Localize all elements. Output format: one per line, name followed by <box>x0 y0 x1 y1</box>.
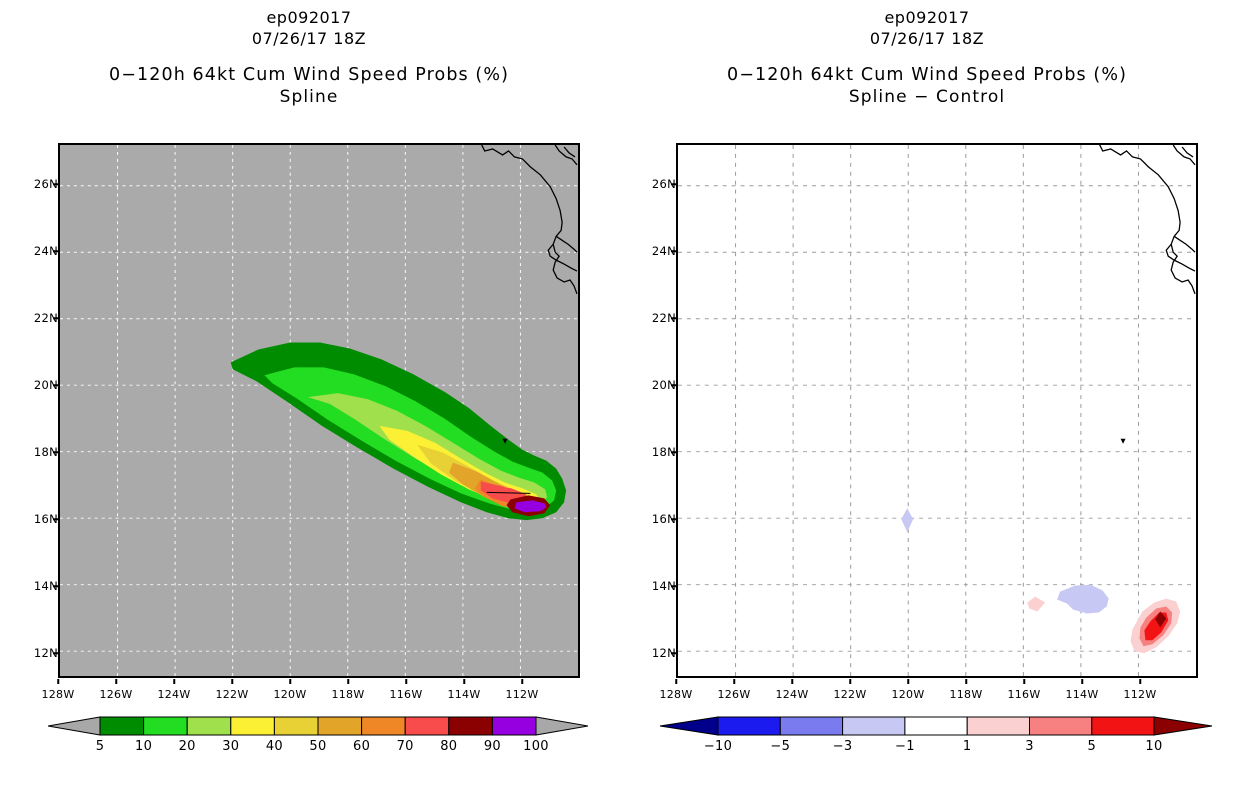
x-tick-mark-116W <box>405 679 407 684</box>
map-plot-area-spline[interactable] <box>58 143 580 678</box>
x-tick-label-120W: 120W <box>273 688 306 701</box>
x-tick-label-122W: 122W <box>833 688 866 701</box>
x-tick-label-112W: 112W <box>1123 688 1156 701</box>
spline-probability-map <box>60 145 578 676</box>
x-tick-label-126W: 126W <box>717 688 750 701</box>
cb-label-5: 5 <box>96 739 105 754</box>
right-title-block: ep092017 07/26/17 18Z 0−120h 64kt Cum Wi… <box>618 8 1236 108</box>
x-tick-label-116W: 116W <box>389 688 422 701</box>
left-storm-id: ep092017 <box>0 8 618 29</box>
x-tick-mark-128W <box>675 679 677 684</box>
x-tick-label-114W: 114W <box>447 688 480 701</box>
cb-label-pos10: 10 <box>1145 739 1162 754</box>
cb-label-80: 80 <box>440 739 457 754</box>
cb-label-20: 20 <box>179 739 196 754</box>
probability-colorbar[interactable]: 5 10 20 30 40 50 60 70 80 90 100 <box>48 715 588 761</box>
x-tick-label-122W: 122W <box>215 688 248 701</box>
right-chart-title: 0−120h 64kt Cum Wind Speed Probs (%) <box>618 64 1236 87</box>
x-tick-label-128W: 128W <box>659 688 692 701</box>
figure-root: ep092017 07/26/17 18Z 0−120h 64kt Cum Wi… <box>0 0 1236 800</box>
cb-label-neg10: −10 <box>704 739 732 754</box>
left-title-block: ep092017 07/26/17 18Z 0−120h 64kt Cum Wi… <box>0 8 618 108</box>
cb-label-70: 70 <box>397 739 414 754</box>
x-tick-label-126W: 126W <box>99 688 132 701</box>
x-tick-label-124W: 124W <box>775 688 808 701</box>
x-tick-mark-122W <box>849 679 851 684</box>
panel-spline-minus-control: ep092017 07/26/17 18Z 0−120h 64kt Cum Wi… <box>618 0 1236 800</box>
cb-label-neg1: −1 <box>895 739 915 754</box>
x-tick-mark-126W <box>115 679 117 684</box>
anomaly-colorbar-swatches <box>646 715 1226 739</box>
cb-label-90: 90 <box>484 739 501 754</box>
colorbar-under-arrow <box>660 717 718 735</box>
cb-label-50: 50 <box>309 739 326 754</box>
panel-spline: ep092017 07/26/17 18Z 0−120h 64kt Cum Wi… <box>0 0 618 800</box>
right-storm-id: ep092017 <box>618 8 1236 29</box>
cb-label-pos5: 5 <box>1088 739 1097 754</box>
anomaly-difference-map <box>678 145 1196 676</box>
x-tick-label-118W: 118W <box>331 688 364 701</box>
cb-label-10: 10 <box>135 739 152 754</box>
anomaly-neg-band-116W <box>1057 585 1109 614</box>
x-tick-mark-124W <box>173 679 175 684</box>
x-tick-label-128W: 128W <box>41 688 74 701</box>
x-tick-label-124W: 124W <box>157 688 190 701</box>
colorbar-under-arrow <box>48 717 100 735</box>
cb-label-neg5: −5 <box>770 739 790 754</box>
coastline <box>481 145 577 294</box>
x-tick-mark-112W <box>521 679 523 684</box>
cb-label-pos1: 1 <box>963 739 972 754</box>
colorbar-over-arrow <box>1154 717 1212 735</box>
colorbar-over-arrow <box>536 717 588 735</box>
x-tick-mark-114W <box>463 679 465 684</box>
x-tick-mark-126W <box>733 679 735 684</box>
x-tick-label-118W: 118W <box>949 688 982 701</box>
storm-marker <box>1121 439 1126 444</box>
contour-bands <box>231 343 566 521</box>
cb-label-100: 100 <box>523 739 549 754</box>
left-chart-subtitle: Spline <box>0 86 618 108</box>
left-chart-title: 0−120h 64kt Cum Wind Speed Probs (%) <box>0 64 618 87</box>
cb-label-pos3: 3 <box>1025 739 1034 754</box>
x-tick-label-120W: 120W <box>891 688 924 701</box>
anomaly-colorbar[interactable]: −10 −5 −3 −1 1 3 5 10 <box>646 715 1226 761</box>
graticule-lines <box>678 145 1196 676</box>
x-tick-mark-120W <box>289 679 291 684</box>
x-tick-mark-116W <box>1023 679 1025 684</box>
left-datetime: 07/26/17 18Z <box>0 29 618 50</box>
x-tick-mark-122W <box>231 679 233 684</box>
cb-label-neg3: −3 <box>833 739 853 754</box>
x-tick-mark-120W <box>907 679 909 684</box>
cb-label-60: 60 <box>353 739 370 754</box>
coastline <box>1099 145 1195 294</box>
map-plot-area-anomaly[interactable] <box>676 143 1198 678</box>
x-tick-label-112W: 112W <box>505 688 538 701</box>
x-tick-mark-124W <box>791 679 793 684</box>
x-tick-mark-118W <box>965 679 967 684</box>
x-tick-label-114W: 114W <box>1065 688 1098 701</box>
anomaly-pos-diamond-117W <box>1027 597 1045 612</box>
anomaly-neg-diamond-122W <box>901 508 913 532</box>
cb-label-40: 40 <box>266 739 283 754</box>
x-tick-mark-128W <box>57 679 59 684</box>
cb-label-30: 30 <box>222 739 239 754</box>
x-tick-mark-118W <box>347 679 349 684</box>
probability-colorbar-swatches <box>48 715 588 739</box>
x-tick-label-116W: 116W <box>1007 688 1040 701</box>
x-tick-mark-112W <box>1139 679 1141 684</box>
right-datetime: 07/26/17 18Z <box>618 29 1236 50</box>
x-tick-mark-114W <box>1081 679 1083 684</box>
right-chart-subtitle: Spline − Control <box>618 86 1236 108</box>
